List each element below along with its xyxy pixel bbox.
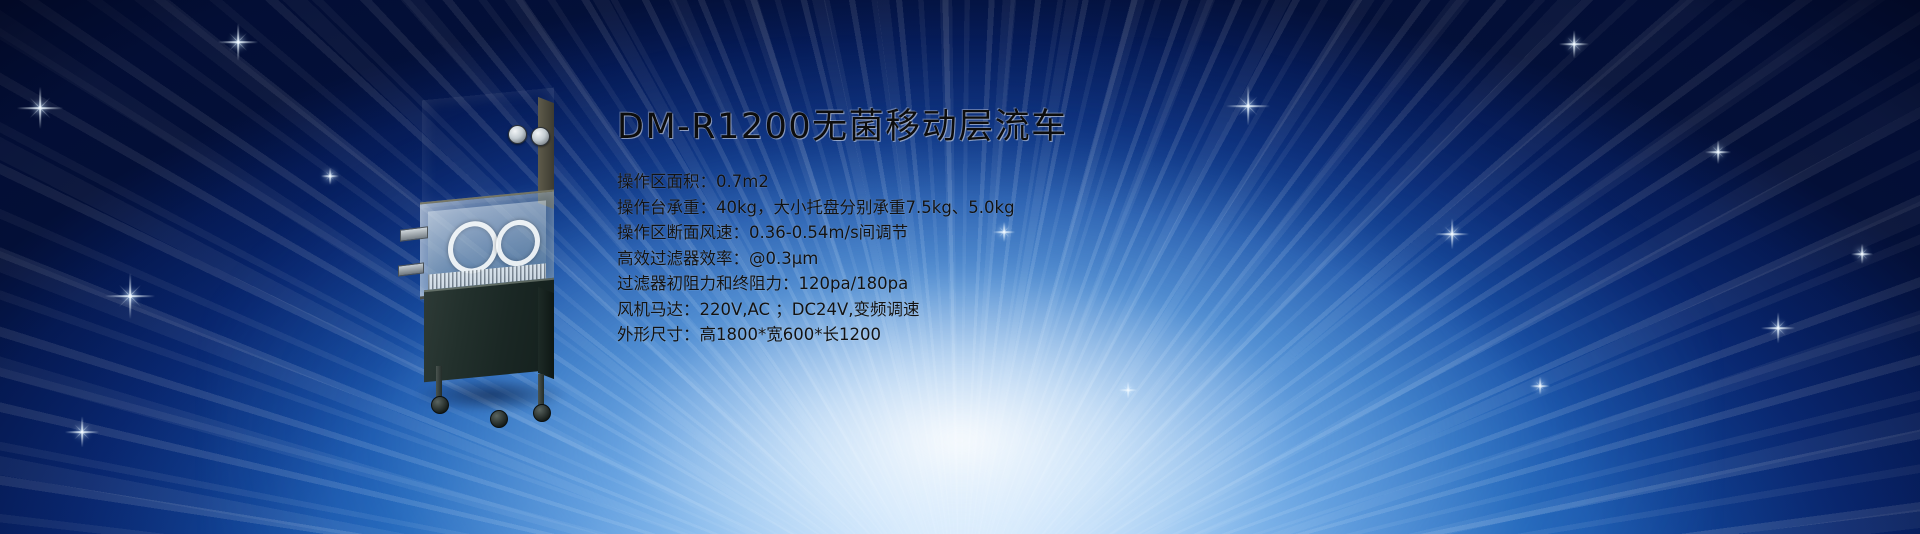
cart-leg [436, 366, 442, 400]
pressure-gauge-icon [531, 127, 550, 146]
cart-leg [538, 374, 544, 408]
spec-line: 操作区断面风速：0.36-0.54m/s间调节 [617, 220, 1177, 246]
caster-wheel [431, 396, 449, 414]
upper-cabinet [422, 88, 554, 209]
pressure-gauge-icon [508, 125, 527, 144]
spec-line: 操作台承重：40kg，大小托盘分别承重7.5kg、5.0kg [617, 195, 1177, 221]
lower-base-side [538, 287, 554, 379]
caster-wheel [490, 410, 508, 428]
spec-line: 风机马达：220V,AC ；DC24V,变频调速 [617, 297, 1177, 323]
spec-list: 操作区面积：0.7m2操作台承重：40kg，大小托盘分别承重7.5kg、5.0k… [617, 169, 1177, 348]
product-title: DM-R1200无菌移动层流车 [617, 110, 1177, 145]
lower-base-cabinet [424, 278, 554, 383]
spec-line: 外形尺寸：高1800*宽600*长1200 [617, 322, 1177, 348]
spec-line: 高效过滤器效率：@0.3μm [617, 246, 1177, 272]
copy-block: DM-R1200无菌移动层流车 操作区面积：0.7m2操作台承重：40kg，大小… [617, 110, 1177, 364]
caster-wheel [533, 404, 551, 422]
spec-line: 操作区面积：0.7m2 [617, 169, 1177, 195]
banner-stage: DM-R1200无菌移动层流车 操作区面积：0.7m2操作台承重：40kg，大小… [0, 0, 1920, 534]
product-image [398, 78, 578, 408]
spec-line: 过滤器初阻力和终阻力：120pa/180pa [617, 271, 1177, 297]
